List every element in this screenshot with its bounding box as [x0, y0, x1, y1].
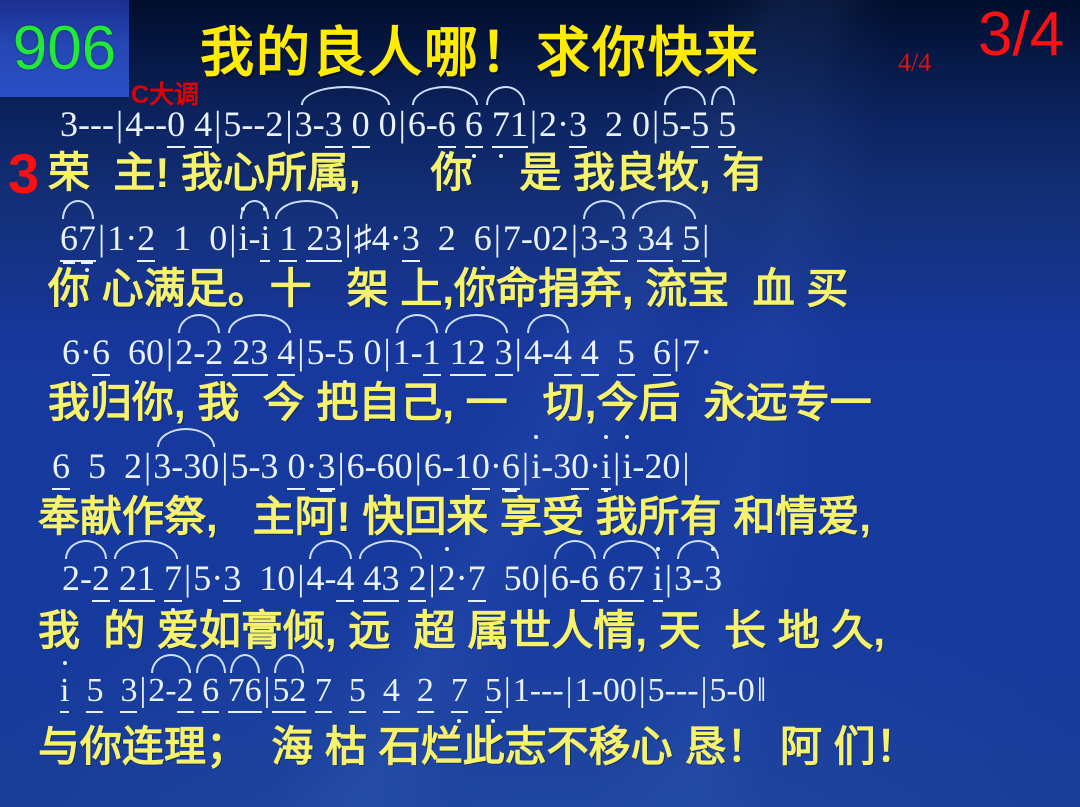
notation-line-1: 3---| 4--0 4| 5--2| 3‑3 0 0| 6‑6 6 71| 2…	[0, 106, 1080, 142]
notation-line-5: 2‑2 21 7| 5·3 10| 4‑4 43 2| 2·7 50| 6‑6 …	[0, 560, 1080, 596]
notation-line-2: 67| 1·2 1 0| i‑i 1 23| ♯4·3 2 6| 7‑02| 3…	[0, 220, 1080, 256]
time-signature-primary: 3/4	[978, 4, 1064, 66]
hymn-slide: 906 我的良人哪！求你快来 C大调 4/4 3/4 3 3---| 4--0 …	[0, 0, 1080, 807]
lyrics-line-3: 我归你, 我 今 把自己, 一 切,今后 永远专一	[0, 382, 1080, 424]
lyrics-line-4: 奉献作祭, 主阿! 快回来 享受 我所有 和情爱,	[0, 496, 1080, 538]
hymn-number: 906	[0, 0, 129, 97]
notation-line-6: i 5 3| 2‑2 6 76| 52 7 5 4 2 7 5| 1---| 1…	[0, 674, 1080, 708]
time-signature-secondary: 4/4	[898, 48, 931, 78]
notation-line-3: 6·6 60| 2‑2 23 4| 5‑5 0| 1‑1 12 3| 4‑4 4…	[0, 334, 1080, 370]
lyrics-line-2: 你 心满足。十 架 上,你命捐弃, 流宝 血 买	[0, 268, 1080, 310]
page-title: 我的良人哪！求你快来	[200, 8, 760, 87]
notation-line-4: 6 5 2| 3‑30| 5‑3 0·3| 6‑60| 6‑10·6| i‑30…	[0, 448, 1080, 484]
lyrics-line-1: 荣 主! 我心所属, 你 是 我良牧, 有	[0, 152, 1080, 194]
lyrics-line-5: 我 的 爱如膏倾, 远 超 属世人情, 天 长 地 久,	[0, 610, 1080, 652]
lyrics-line-6: 与你连理； 海 枯 石烂此志不移心 恳！ 阿 们！	[0, 726, 1080, 768]
